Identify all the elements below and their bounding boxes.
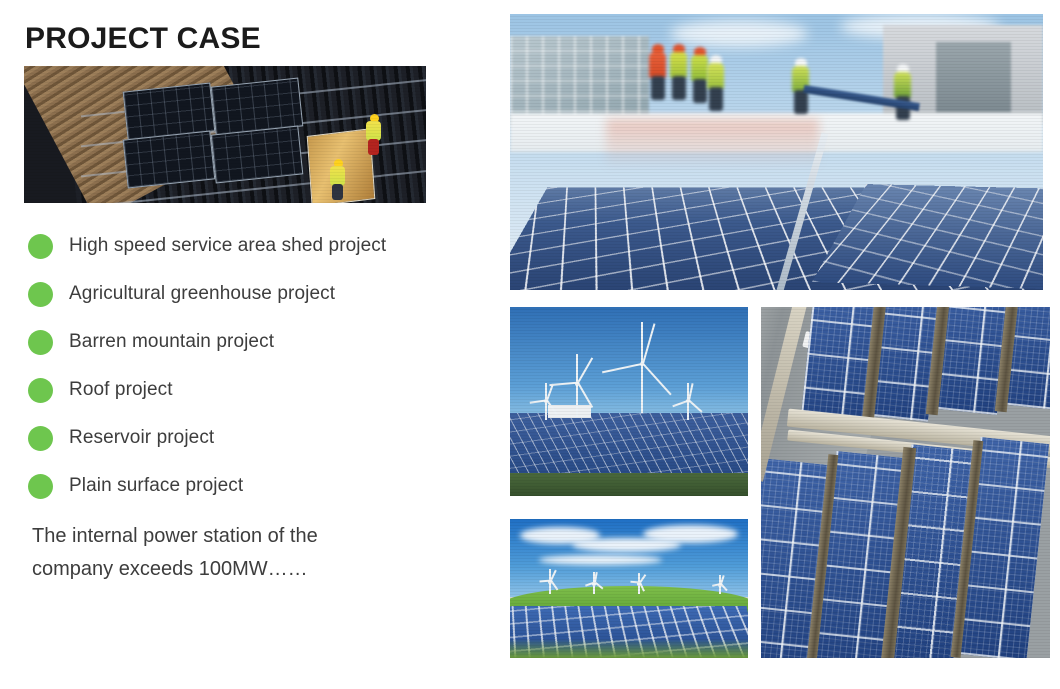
summary-line-2: company exceeds 100MW…… [32,553,452,586]
list-item-label: High speed service area shed project [69,235,386,257]
list-item-label: Roof project [69,379,173,401]
list-item[interactable]: Barren mountain project [28,318,468,366]
rooftop-crew-art [510,14,1043,290]
list-item[interactable]: Agricultural greenhouse project [28,270,468,318]
list-item[interactable]: High speed service area shed project [28,222,468,270]
summary-line-1: The internal power station of the [32,520,452,553]
wind-solar-art [510,307,748,496]
aerial-roof-art [761,307,1050,658]
green-dot-icon [28,282,53,307]
roof-install-art [24,66,426,203]
list-item-label: Reservoir project [69,427,214,449]
green-dot-icon [28,426,53,451]
project-case-slide: PROJECT CASE High [0,0,1060,689]
photo-roof-install [24,66,426,203]
green-dot-icon [28,474,53,499]
list-item[interactable]: Roof project [28,366,468,414]
photo-rooftop-crew [510,14,1043,290]
green-dot-icon [28,234,53,259]
list-item-label: Plain surface project [69,475,243,497]
photo-grass-solar [510,519,748,658]
list-item-label: Barren mountain project [69,331,274,353]
photo-wind-solar [510,307,748,496]
page-title: PROJECT CASE [25,22,261,56]
photo-aerial-roof [761,307,1050,658]
list-item[interactable]: Reservoir project [28,414,468,462]
green-dot-icon [28,378,53,403]
grass-solar-art [510,519,748,658]
summary-text: The internal power station of the compan… [32,520,452,586]
project-list: High speed service area shed project Agr… [28,222,468,510]
green-dot-icon [28,330,53,355]
list-item-label: Agricultural greenhouse project [69,283,335,305]
list-item[interactable]: Plain surface project [28,462,468,510]
